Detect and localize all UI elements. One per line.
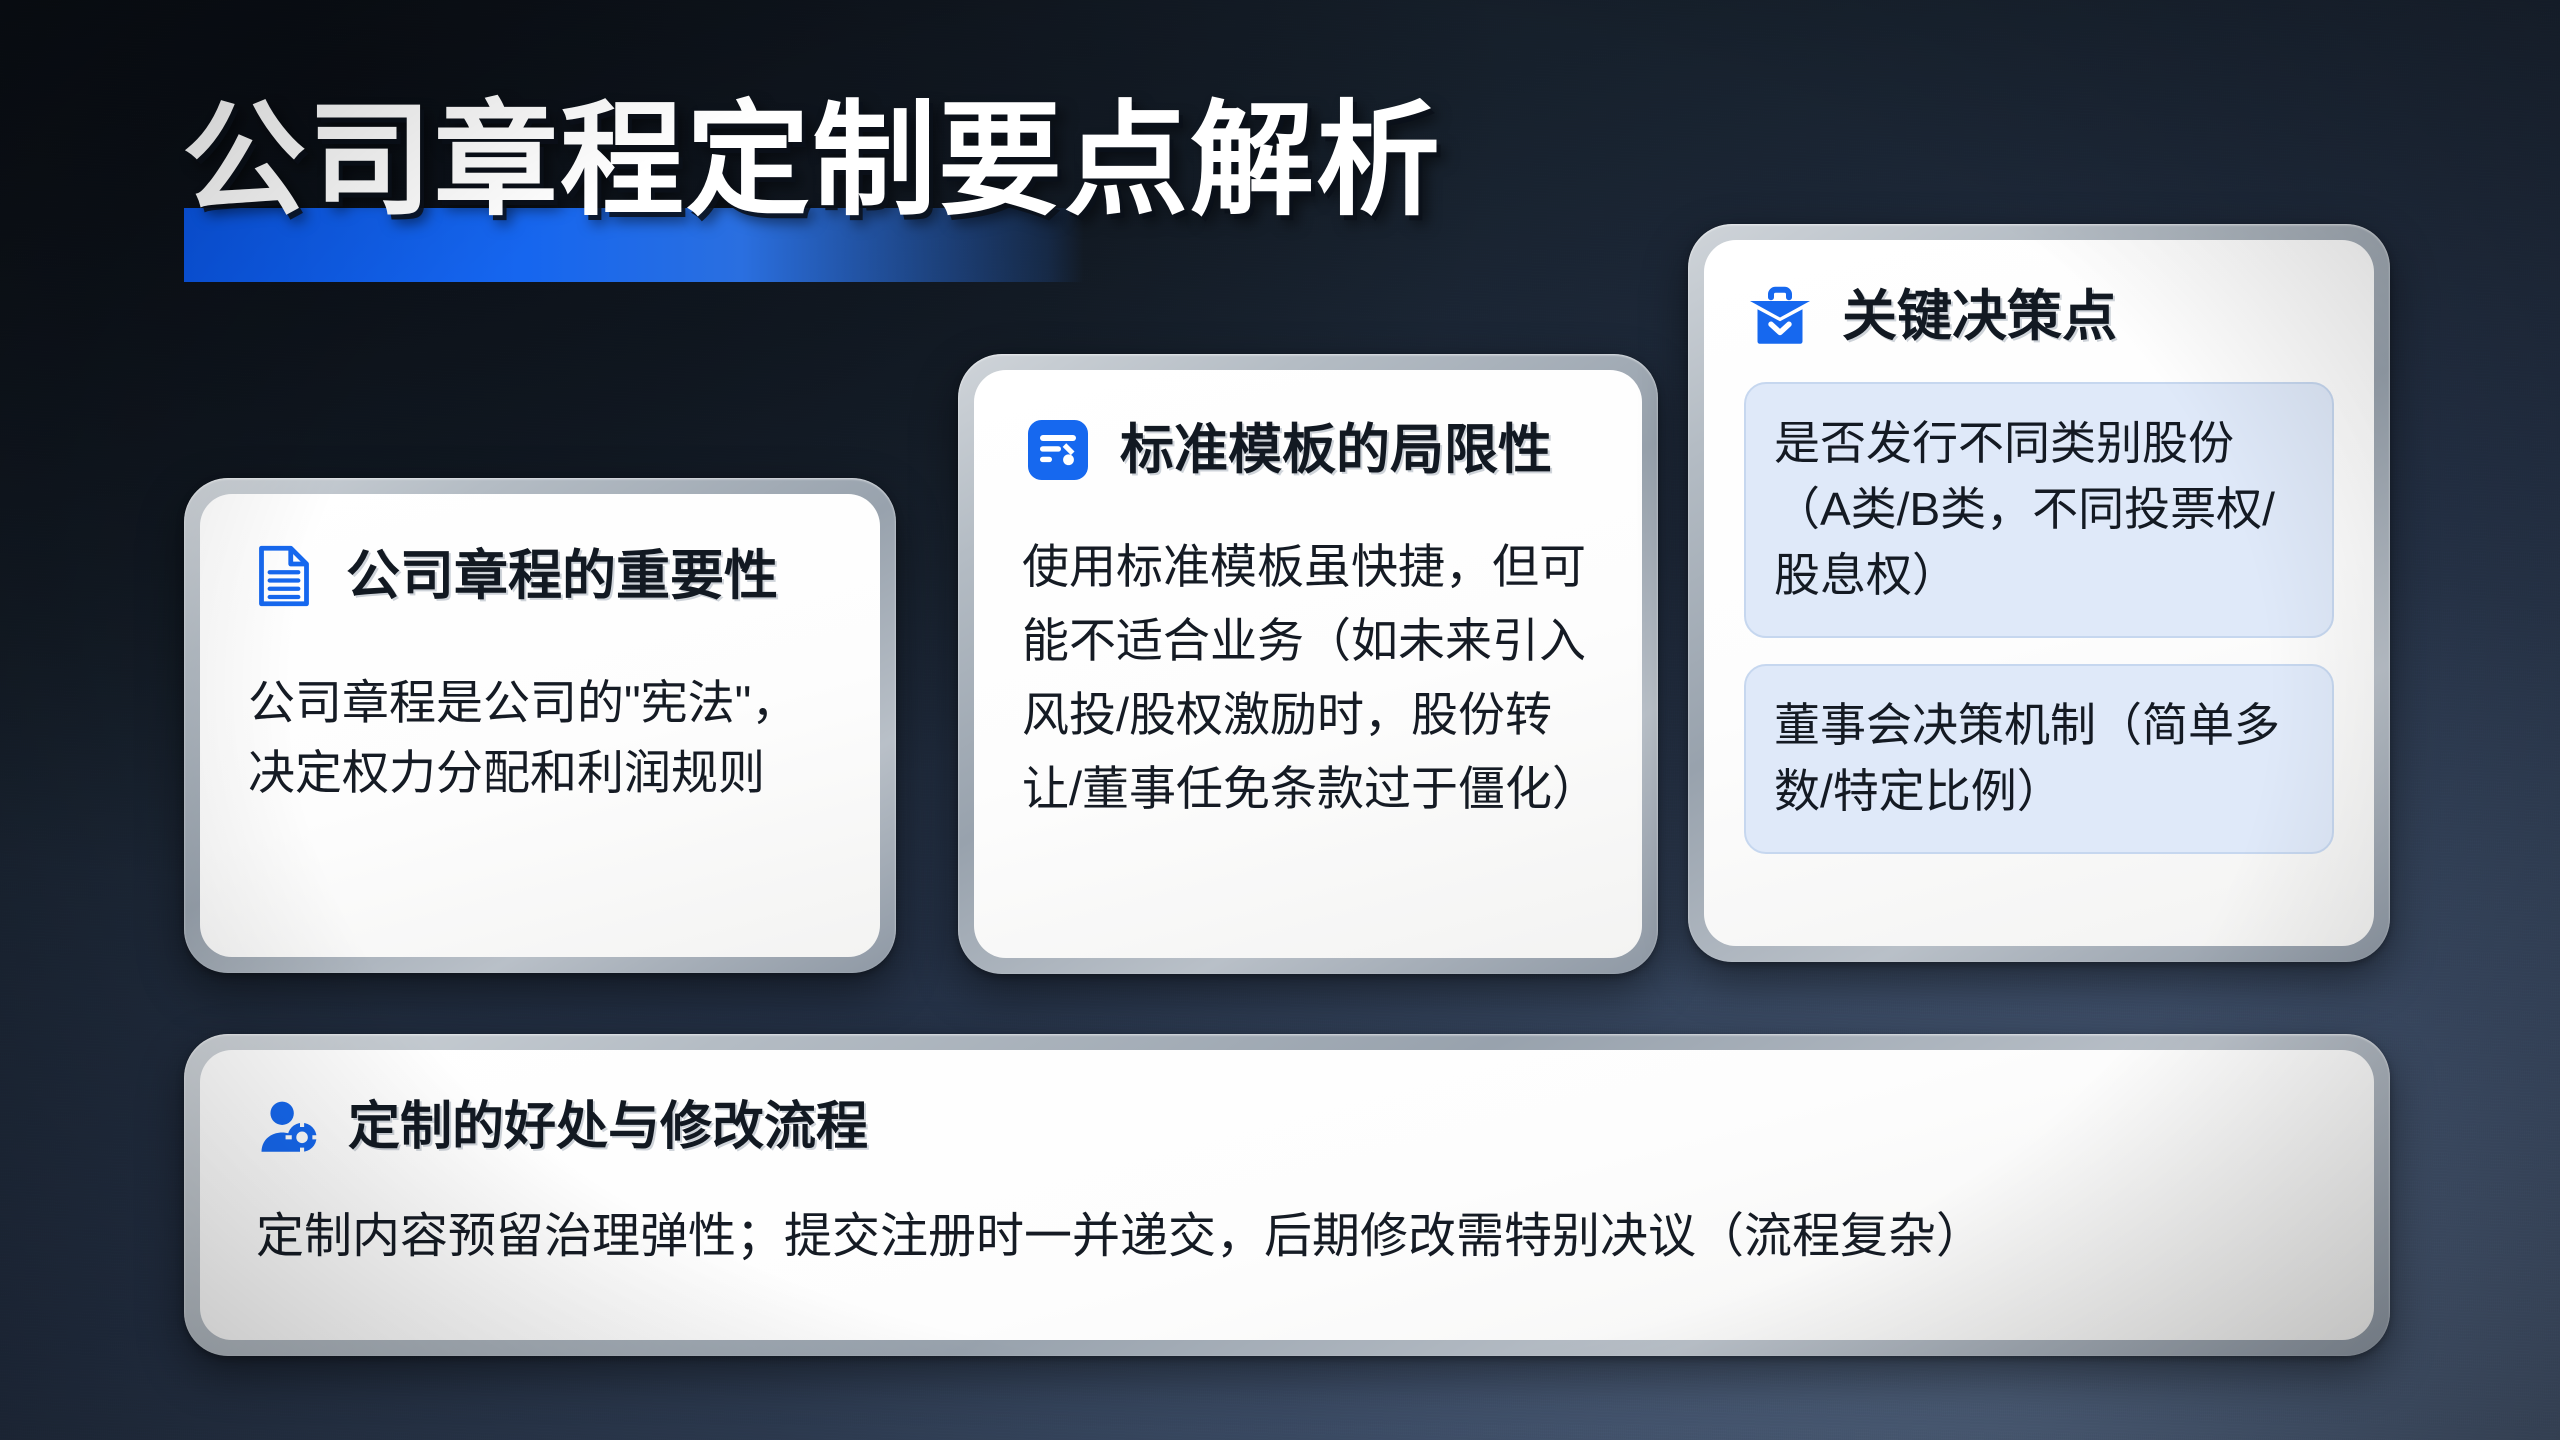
card-template-limits[interactable]: 标准模板的局限性 使用标准模板虽快捷，但可能不适合业务（如未来引入风投/股权激励… [958, 354, 1658, 974]
card-benefits-process-title: 定制的好处与修改流程 [348, 1095, 868, 1159]
card-key-decisions[interactable]: 关键决策点 是否发行不同类别股份（A类/B类，不同投票权/股息权） 董事会决策机… [1688, 224, 2390, 962]
card-key-decisions-header: 关键决策点 [1744, 280, 2334, 352]
user-settings-icon [256, 1094, 322, 1160]
card-key-decisions-inner: 关键决策点 是否发行不同类别股份（A类/B类，不同投票权/股息权） 董事会决策机… [1704, 240, 2374, 946]
card-key-decisions-title: 关键决策点 [1842, 284, 2117, 348]
card-template-limits-header: 标准模板的局限性 [1022, 414, 1594, 486]
card-importance-body: 公司章程是公司的"宪法"，决定权力分配和利润规则 [248, 668, 832, 808]
page-title-block: 公司章程定制要点解析 [182, 86, 1682, 286]
card-benefits-process[interactable]: 定制的好处与修改流程 定制内容预留治理弹性；提交注册时一并递交，后期修改需特别决… [184, 1034, 2390, 1356]
slide-canvas: 公司章程定制要点解析 公司章程的重要性 公司章程是公司的"宪法"，决定权力分配和… [0, 0, 2560, 1440]
card-importance-header: 公司章程的重要性 [248, 540, 832, 612]
list-item: 董事会决策机制（简单多数/特定比例） [1744, 664, 2334, 854]
page-title: 公司章程定制要点解析 [182, 86, 1442, 236]
card-benefits-process-inner: 定制的好处与修改流程 定制内容预留治理弹性；提交注册时一并递交，后期修改需特别决… [200, 1050, 2374, 1340]
document-icon [248, 540, 320, 612]
key-decisions-list: 是否发行不同类别股份（A类/B类，不同投票权/股息权） 董事会决策机制（简单多数… [1744, 382, 2334, 854]
card-template-limits-inner: 标准模板的局限性 使用标准模板虽快捷，但可能不适合业务（如未来引入风投/股权激励… [974, 370, 1642, 958]
card-importance-inner: 公司章程的重要性 公司章程是公司的"宪法"，决定权力分配和利润规则 [200, 494, 880, 957]
briefcase-check-icon [1744, 280, 1816, 352]
card-template-limits-body: 使用标准模板虽快捷，但可能不适合业务（如未来引入风投/股权激励时，股份转让/董事… [1022, 530, 1594, 826]
form-template-icon [1022, 414, 1094, 486]
card-benefits-process-header: 定制的好处与修改流程 [256, 1094, 2318, 1160]
card-importance-title: 公司章程的重要性 [346, 544, 778, 608]
list-item: 是否发行不同类别股份（A类/B类，不同投票权/股息权） [1744, 382, 2334, 638]
card-template-limits-title: 标准模板的局限性 [1120, 418, 1552, 482]
card-benefits-process-body: 定制内容预留治理弹性；提交注册时一并递交，后期修改需特别决议（流程复杂） [256, 1206, 2318, 1268]
card-importance[interactable]: 公司章程的重要性 公司章程是公司的"宪法"，决定权力分配和利润规则 [184, 478, 896, 973]
